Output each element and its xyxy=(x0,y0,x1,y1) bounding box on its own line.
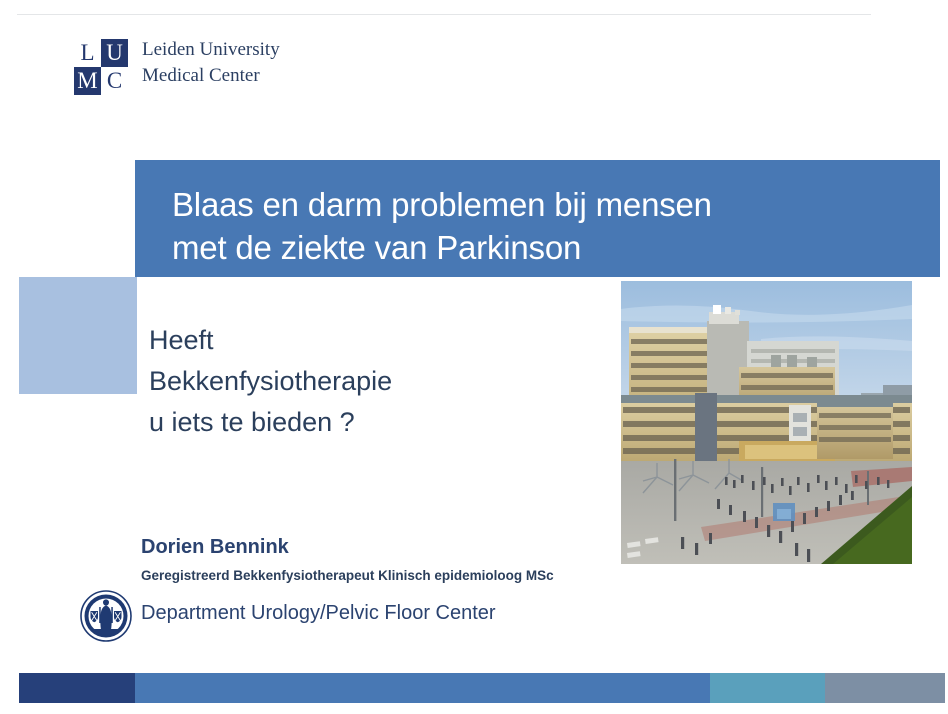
author-name: Dorien Bennink xyxy=(141,534,289,560)
header-divider xyxy=(17,14,871,15)
author-department: Department Urology/Pelvic Floor Center xyxy=(141,599,496,627)
lumc-hospital-building-photo xyxy=(621,281,912,564)
logo-cell-c: C xyxy=(101,67,128,95)
bar-segment-navy xyxy=(19,673,135,703)
leiden-university-seal xyxy=(80,590,132,642)
presentation-slide: L U M C Leiden University Medical Center… xyxy=(0,0,948,714)
bar-segment-gray xyxy=(825,673,945,703)
slide-title-line1: Blaas en darm problemen bij mensen xyxy=(172,183,912,226)
logo-cell-u: U xyxy=(101,39,128,67)
lumc-logo-mark: L U M C xyxy=(74,39,128,95)
lumc-wordmark-line1: Leiden University xyxy=(142,37,280,63)
lumc-wordmark: Leiden University Medical Center xyxy=(142,37,280,89)
logo-cell-m: M xyxy=(74,67,101,95)
hospital-photo-graphic xyxy=(621,281,912,564)
slide-title-line2: met de ziekte van Parkinson xyxy=(172,226,912,269)
slide-title: Blaas en darm problemen bij mensen met d… xyxy=(172,183,912,269)
slide-subtitle-line2: Bekkenfysiotherapie xyxy=(149,361,589,402)
title-banner: Blaas en darm problemen bij mensen met d… xyxy=(135,160,940,277)
lumc-wordmark-line2: Medical Center xyxy=(142,63,280,89)
seal-graphic xyxy=(80,590,132,642)
slide-subtitle-line1: Heeft xyxy=(149,320,589,361)
accent-block xyxy=(19,277,137,394)
slide-subtitle: Heeft Bekkenfysiotherapie u iets te bied… xyxy=(149,320,589,443)
bottom-color-bar xyxy=(19,673,945,703)
lumc-logo: L U M C Leiden University Medical Center xyxy=(74,39,334,97)
bar-segment-teal xyxy=(710,673,825,703)
bar-segment-blue xyxy=(135,673,710,703)
author-credentials: Geregistreerd Bekkenfysiotherapeut Klini… xyxy=(141,567,554,585)
slide-subtitle-line3: u iets te bieden ? xyxy=(149,402,589,443)
logo-cell-l: L xyxy=(74,39,101,67)
